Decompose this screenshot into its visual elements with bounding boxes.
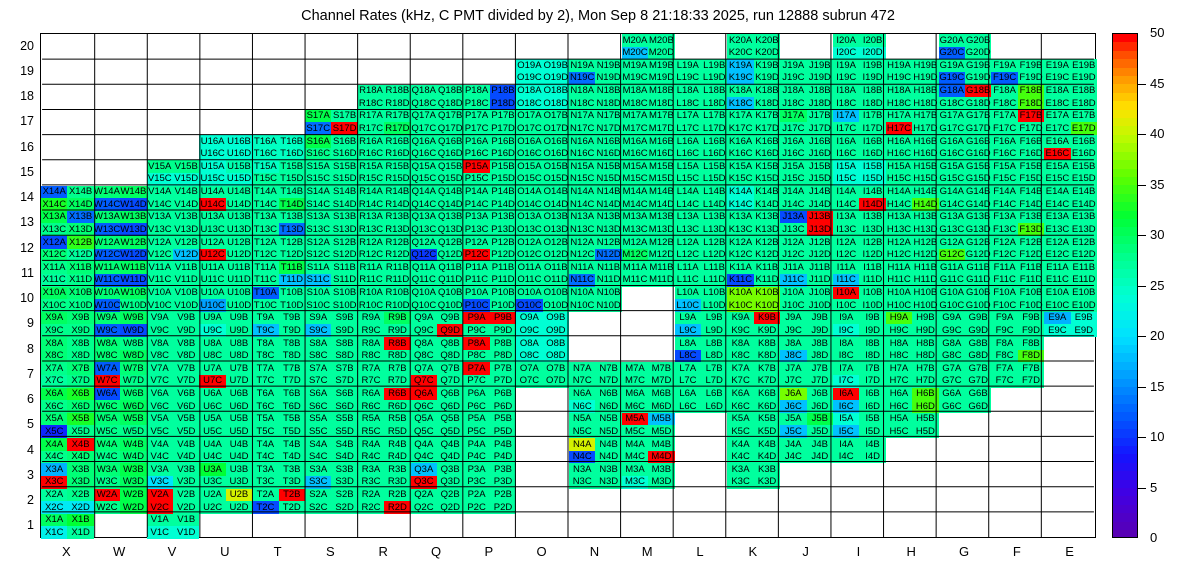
heatmap-subcell[interactable]: M6C [622, 400, 648, 413]
heatmap-subcell[interactable]: V2D [173, 501, 199, 514]
heatmap-cell[interactable]: S2AS2BS2CS2D [305, 489, 358, 514]
heatmap-subcell[interactable]: M6D [648, 400, 674, 413]
heatmap-subcell[interactable]: X6D [67, 400, 93, 413]
heatmap-subcell[interactable]: I8C [833, 350, 859, 363]
heatmap-subcell[interactable]: G19D [965, 72, 991, 85]
heatmap-subcell[interactable]: K11D [754, 274, 780, 287]
heatmap-subcell[interactable]: K13A [727, 211, 753, 224]
heatmap-cell[interactable]: R12AR12BR12CR12D [358, 236, 411, 261]
heatmap-cell[interactable]: T8AT8BT8CT8D [252, 337, 305, 362]
heatmap-subcell[interactable]: K19C [727, 72, 753, 85]
heatmap-cell[interactable]: J5AJ5BJ5CJ5D [780, 413, 833, 438]
heatmap-subcell[interactable]: K16D [754, 148, 780, 161]
heatmap-subcell[interactable]: R18C [358, 97, 384, 110]
heatmap-subcell[interactable]: J16A [780, 135, 806, 148]
heatmap-subcell[interactable]: T4C [252, 451, 278, 464]
heatmap-subcell[interactable]: H15B [912, 160, 938, 173]
heatmap-subcell[interactable]: N18D [595, 97, 621, 110]
heatmap-subcell[interactable]: O14D [543, 198, 569, 211]
heatmap-subcell[interactable]: K13C [727, 223, 753, 236]
heatmap-subcell[interactable]: M17D [648, 122, 674, 135]
heatmap-subcell[interactable]: X4B [67, 438, 93, 451]
heatmap-subcell[interactable]: T5B [279, 413, 305, 426]
heatmap-cell[interactable]: U3AU3BU3CU3D [199, 463, 252, 488]
heatmap-subcell[interactable]: R3D [384, 476, 410, 489]
heatmap-subcell[interactable]: M18D [648, 97, 674, 110]
heatmap-subcell[interactable]: I7C [833, 375, 859, 388]
heatmap-subcell[interactable]: U5D [226, 425, 252, 438]
heatmap-cell[interactable]: O11AO11BO11CO11D [516, 261, 569, 286]
heatmap-subcell[interactable]: P8A [463, 337, 489, 350]
heatmap-subcell[interactable]: U14B [226, 186, 252, 199]
heatmap-subcell[interactable]: I13D [859, 223, 885, 236]
heatmap-subcell[interactable]: I15D [859, 173, 885, 186]
heatmap-subcell[interactable]: Q14A [411, 186, 437, 199]
heatmap-subcell[interactable]: P9D [490, 324, 516, 337]
heatmap-cell[interactable]: R18AR18BR18CR18D [358, 85, 411, 110]
heatmap-cell[interactable]: L9AL9BL9CL9D [675, 312, 728, 337]
heatmap-subcell[interactable]: N3C [569, 476, 595, 489]
heatmap-subcell[interactable]: E14A [1044, 186, 1070, 199]
heatmap-cell[interactable]: S9AS9BS9CS9D [305, 312, 358, 337]
heatmap-cell[interactable]: F9AF9BF9CF9D [991, 312, 1044, 337]
heatmap-cell[interactable]: R6AR6BR6CR6D [358, 388, 411, 413]
heatmap-subcell[interactable]: K8B [754, 337, 780, 350]
heatmap-subcell[interactable]: H18B [912, 85, 938, 98]
heatmap-subcell[interactable]: S8C [305, 350, 331, 363]
heatmap-cell[interactable]: Q8AQ8BQ8CQ8D [411, 337, 464, 362]
heatmap-cell[interactable]: V10AV10BV10CV10D [147, 287, 200, 312]
heatmap-subcell[interactable]: Q12B [437, 236, 463, 249]
heatmap-subcell[interactable]: W13D [120, 223, 146, 236]
heatmap-subcell[interactable]: F14C [991, 198, 1017, 211]
heatmap-subcell[interactable]: F18C [991, 97, 1017, 110]
heatmap-subcell[interactable]: K9D [754, 324, 780, 337]
heatmap-subcell[interactable]: V14B [173, 186, 199, 199]
heatmap-subcell[interactable]: P16D [490, 148, 516, 161]
heatmap-subcell[interactable]: U5B [226, 413, 252, 426]
heatmap-cell[interactable]: M19AM19BM19CM19D [622, 59, 675, 84]
heatmap-subcell[interactable]: E13C [1044, 223, 1070, 236]
heatmap-subcell[interactable]: O17D [543, 122, 569, 135]
heatmap-cell[interactable]: S3AS3BS3CS3D [305, 463, 358, 488]
heatmap-subcell[interactable]: H9A [886, 312, 912, 325]
heatmap-subcell[interactable]: I13B [859, 211, 885, 224]
heatmap-subcell[interactable]: Q12D [437, 249, 463, 262]
heatmap-cell[interactable]: R15AR15BR15CR15D [358, 160, 411, 185]
heatmap-subcell[interactable]: H11B [912, 261, 938, 274]
heatmap-cell[interactable]: O9AO9BO9CO9D [516, 312, 569, 337]
heatmap-subcell[interactable]: G9D [965, 324, 991, 337]
heatmap-cell[interactable]: J18AJ18BJ18CJ18D [780, 85, 833, 110]
heatmap-subcell[interactable]: V7A [147, 362, 173, 375]
heatmap-subcell[interactable]: U10D [226, 299, 252, 312]
heatmap-subcell[interactable]: U11B [226, 261, 252, 274]
heatmap-subcell[interactable]: W12B [120, 236, 146, 249]
heatmap-subcell[interactable]: T2B [279, 489, 305, 502]
heatmap-subcell[interactable]: S7A [305, 362, 331, 375]
heatmap-subcell[interactable]: S17A [305, 110, 331, 123]
heatmap-subcell[interactable]: F17D [1018, 122, 1044, 135]
heatmap-cell[interactable]: V13AV13BV13CV13D [147, 211, 200, 236]
heatmap-subcell[interactable]: L7B [701, 362, 727, 375]
heatmap-cell[interactable]: G20AG20BG20CG20D [939, 34, 992, 59]
heatmap-cell[interactable]: K3AK3BK3CK3D [727, 463, 780, 488]
heatmap-subcell[interactable]: U9B [226, 312, 252, 325]
heatmap-subcell[interactable]: L13A [675, 211, 701, 224]
heatmap-subcell[interactable]: L13C [675, 223, 701, 236]
heatmap-subcell[interactable]: Q8D [437, 350, 463, 363]
heatmap-subcell[interactable]: I12C [833, 249, 859, 262]
heatmap-subcell[interactable]: Q6A [411, 388, 437, 401]
heatmap-subcell[interactable]: K4D [754, 451, 780, 464]
heatmap-subcell[interactable]: P2A [463, 489, 489, 502]
heatmap-cell[interactable]: F19AF19BF19CF19D [991, 59, 1044, 84]
heatmap-cell[interactable]: R14AR14BR14CR14D [358, 186, 411, 211]
heatmap-subcell[interactable]: U12C [199, 249, 225, 262]
heatmap-subcell[interactable]: V12A [147, 236, 173, 249]
heatmap-subcell[interactable]: G10B [965, 287, 991, 300]
heatmap-subcell[interactable]: Q8C [411, 350, 437, 363]
heatmap-subcell[interactable]: G7C [939, 375, 965, 388]
heatmap-subcell[interactable]: M3C [622, 476, 648, 489]
heatmap-cell[interactable]: W11AW11BW11CW11D [94, 261, 147, 286]
heatmap-subcell[interactable]: F15C [991, 173, 1017, 186]
heatmap-subcell[interactable]: W2D [120, 501, 146, 514]
heatmap-subcell[interactable]: K12C [727, 249, 753, 262]
heatmap-subcell[interactable]: R7B [384, 362, 410, 375]
heatmap-subcell[interactable]: E18C [1044, 97, 1070, 110]
heatmap-subcell[interactable]: P6A [463, 388, 489, 401]
heatmap-subcell[interactable]: I11A [833, 261, 859, 274]
heatmap-cell[interactable]: R9AR9BR9CR9D [358, 312, 411, 337]
heatmap-subcell[interactable]: O16B [543, 135, 569, 148]
heatmap-subcell[interactable]: M20D [648, 47, 674, 60]
heatmap-subcell[interactable]: O7B [543, 362, 569, 375]
heatmap-subcell[interactable]: R17D [384, 122, 410, 135]
heatmap-cell[interactable]: H8AH8BH8CH8D [886, 337, 939, 362]
heatmap-subcell[interactable]: E13B [1071, 211, 1097, 224]
heatmap-subcell[interactable]: H18D [912, 97, 938, 110]
heatmap-cell[interactable]: V5AV5BV5CV5D [147, 413, 200, 438]
heatmap-subcell[interactable]: G8B [965, 337, 991, 350]
heatmap-subcell[interactable]: E12A [1044, 236, 1070, 249]
heatmap-subcell[interactable]: R13B [384, 211, 410, 224]
heatmap-subcell[interactable]: V1B [173, 514, 199, 527]
heatmap-subcell[interactable]: O18A [516, 85, 542, 98]
heatmap-subcell[interactable]: H8B [912, 337, 938, 350]
heatmap-cell[interactable]: K19AK19BK19CK19D [727, 59, 780, 84]
heatmap-cell[interactable]: K13AK13BK13CK13D [727, 211, 780, 236]
heatmap-subcell[interactable]: N14D [595, 198, 621, 211]
heatmap-subcell[interactable]: H13A [886, 211, 912, 224]
heatmap-subcell[interactable]: Q13D [437, 223, 463, 236]
heatmap-subcell[interactable]: U5A [199, 413, 225, 426]
heatmap-cell[interactable]: U10AU10BU10CU10D [199, 287, 252, 312]
heatmap-subcell[interactable]: G9B [965, 312, 991, 325]
heatmap-subcell[interactable]: H13C [886, 223, 912, 236]
heatmap-subcell[interactable]: I13C [833, 223, 859, 236]
heatmap-subcell[interactable]: S6A [305, 388, 331, 401]
heatmap-subcell[interactable]: K3B [754, 463, 780, 476]
heatmap-subcell[interactable]: M5B [648, 413, 674, 426]
heatmap-subcell[interactable]: N7A [569, 362, 595, 375]
heatmap-subcell[interactable]: G15A [939, 160, 965, 173]
heatmap-subcell[interactable]: R4B [384, 438, 410, 451]
heatmap-cell[interactable]: K15AK15BK15CK15D [727, 160, 780, 185]
heatmap-subcell[interactable]: M3A [622, 463, 648, 476]
heatmap-cell[interactable]: J8AJ8BJ8CJ8D [780, 337, 833, 362]
heatmap-subcell[interactable]: J15D [807, 173, 833, 186]
heatmap-cell[interactable]: N18AN18BN18CN18D [569, 85, 622, 110]
heatmap-subcell[interactable]: X5D [67, 425, 93, 438]
heatmap-cell[interactable]: M17AM17BM17CM17D [622, 110, 675, 135]
heatmap-subcell[interactable]: I5D [859, 425, 885, 438]
heatmap-subcell[interactable]: Q10D [437, 299, 463, 312]
heatmap-subcell[interactable]: I20B [859, 34, 885, 47]
heatmap-subcell[interactable]: T15C [252, 173, 278, 186]
heatmap-subcell[interactable]: K3C [727, 476, 753, 489]
heatmap-cell[interactable]: V2AV2BV2CV2D [147, 489, 200, 514]
heatmap-subcell[interactable]: N3B [595, 463, 621, 476]
heatmap-subcell[interactable]: T16A [252, 135, 278, 148]
heatmap-cell[interactable]: O7AO7BO7CO7D [516, 362, 569, 387]
heatmap-cell[interactable]: T2AT2BT2CT2D [252, 489, 305, 514]
heatmap-subcell[interactable]: Q11A [411, 261, 437, 274]
heatmap-subcell[interactable]: J13B [807, 211, 833, 224]
heatmap-cell[interactable]: J6AJ6BJ6CJ6D [780, 388, 833, 413]
heatmap-subcell[interactable]: P11A [463, 261, 489, 274]
heatmap-subcell[interactable]: X7D [67, 375, 93, 388]
heatmap-cell[interactable]: M16AM16BM16CM16D [622, 135, 675, 160]
heatmap-subcell[interactable]: I17B [859, 110, 885, 123]
heatmap-subcell[interactable]: K8C [727, 350, 753, 363]
heatmap-subcell[interactable]: T12B [279, 236, 305, 249]
heatmap-subcell[interactable]: N12C [569, 249, 595, 262]
heatmap-subcell[interactable]: S15D [331, 173, 357, 186]
heatmap-subcell[interactable]: I14A [833, 186, 859, 199]
heatmap-cell[interactable]: F8AF8BF8CF8D [991, 337, 1044, 362]
heatmap-subcell[interactable]: N15C [569, 173, 595, 186]
heatmap-subcell[interactable]: V5B [173, 413, 199, 426]
heatmap-cell[interactable]: J13AJ13BJ13CJ13D [780, 211, 833, 236]
heatmap-subcell[interactable]: L15D [701, 173, 727, 186]
heatmap-subcell[interactable]: O12D [543, 249, 569, 262]
heatmap-subcell[interactable]: X13B [67, 211, 93, 224]
heatmap-cell[interactable]: N6AN6BN6CN6D [569, 388, 622, 413]
heatmap-subcell[interactable]: L10D [701, 299, 727, 312]
heatmap-subcell[interactable]: V8C [147, 350, 173, 363]
heatmap-cell[interactable]: P6AP6BP6CP6D [463, 388, 516, 413]
heatmap-cell[interactable]: S6AS6BS6CS6D [305, 388, 358, 413]
heatmap-subcell[interactable]: P10D [490, 299, 516, 312]
heatmap-subcell[interactable]: K20D [754, 47, 780, 60]
heatmap-cell[interactable]: T11AT11BT11CT11D [252, 261, 305, 286]
heatmap-subcell[interactable]: X7B [67, 362, 93, 375]
heatmap-subcell[interactable]: T14C [252, 198, 278, 211]
heatmap-subcell[interactable]: M7D [648, 375, 674, 388]
heatmap-cell[interactable]: Q3AQ3BQ3CQ3D [411, 463, 464, 488]
heatmap-cell[interactable]: E14AE14BE14CE14D [1044, 186, 1097, 211]
heatmap-subcell[interactable]: R5B [384, 413, 410, 426]
heatmap-subcell[interactable]: F14A [991, 186, 1017, 199]
heatmap-subcell[interactable]: R5C [358, 425, 384, 438]
heatmap-subcell[interactable]: G17A [939, 110, 965, 123]
heatmap-subcell[interactable]: E11B [1071, 261, 1097, 274]
heatmap-subcell[interactable]: S8A [305, 337, 331, 350]
heatmap-subcell[interactable]: M11B [648, 261, 674, 274]
heatmap-subcell[interactable]: J5D [807, 425, 833, 438]
heatmap-subcell[interactable]: R2B [384, 489, 410, 502]
heatmap-cell[interactable]: V14AV14BV14CV14D [147, 186, 200, 211]
heatmap-subcell[interactable]: S4D [331, 451, 357, 464]
heatmap-subcell[interactable]: F8C [991, 350, 1017, 363]
heatmap-subcell[interactable]: N4B [595, 438, 621, 451]
heatmap-cell[interactable]: X6AX6BX6CX6D [41, 388, 94, 413]
heatmap-subcell[interactable]: J18C [780, 97, 806, 110]
heatmap-subcell[interactable]: P2B [490, 489, 516, 502]
heatmap-subcell[interactable]: X9B [67, 312, 93, 325]
heatmap-cell[interactable]: L15AL15BL15CL15D [675, 160, 728, 185]
heatmap-subcell[interactable]: F7A [991, 362, 1017, 375]
heatmap-subcell[interactable]: X10A [41, 287, 67, 300]
heatmap-subcell[interactable]: G13C [939, 223, 965, 236]
heatmap-cell[interactable]: K16AK16BK16CK16D [727, 135, 780, 160]
heatmap-subcell[interactable]: S7D [331, 375, 357, 388]
heatmap-subcell[interactable]: R12B [384, 236, 410, 249]
heatmap-subcell[interactable]: T11B [279, 261, 305, 274]
heatmap-subcell[interactable]: H5A [886, 413, 912, 426]
heatmap-subcell[interactable]: E12B [1071, 236, 1097, 249]
heatmap-cell[interactable]: G14AG14BG14CG14D [939, 186, 992, 211]
heatmap-subcell[interactable]: X3A [41, 463, 67, 476]
heatmap-subcell[interactable]: V7B [173, 362, 199, 375]
heatmap-subcell[interactable]: K18A [727, 85, 753, 98]
heatmap-cell[interactable]: V7AV7BV7CV7D [147, 362, 200, 387]
heatmap-subcell[interactable]: O11B [543, 261, 569, 274]
heatmap-subcell[interactable]: S10C [305, 299, 331, 312]
heatmap-subcell[interactable]: I20A [833, 34, 859, 47]
heatmap-subcell[interactable]: R10A [358, 287, 384, 300]
heatmap-subcell[interactable]: V14C [147, 198, 173, 211]
heatmap-subcell[interactable]: F11A [991, 261, 1017, 274]
heatmap-subcell[interactable]: X8A [41, 337, 67, 350]
heatmap-subcell[interactable]: M6A [622, 388, 648, 401]
heatmap-subcell[interactable]: E9B [1071, 312, 1097, 325]
heatmap-subcell[interactable]: O16D [543, 148, 569, 161]
heatmap-subcell[interactable]: P15D [490, 173, 516, 186]
heatmap-subcell[interactable]: N6A [569, 388, 595, 401]
heatmap-cell[interactable]: I5AI5BI5CI5D [833, 413, 886, 438]
heatmap-cell[interactable]: N4AN4BN4CN4D [569, 438, 622, 463]
heatmap-subcell[interactable]: I14D [859, 198, 885, 211]
heatmap-subcell[interactable]: M7C [622, 375, 648, 388]
heatmap-subcell[interactable]: M4D [648, 451, 674, 464]
heatmap-subcell[interactable]: F12B [1018, 236, 1044, 249]
heatmap-cell[interactable]: R11AR11BR11CR11D [358, 261, 411, 286]
heatmap-subcell[interactable]: F18B [1018, 85, 1044, 98]
heatmap-subcell[interactable]: Q3C [411, 476, 437, 489]
heatmap-subcell[interactable]: S10A [305, 287, 331, 300]
heatmap-subcell[interactable]: T5C [252, 425, 278, 438]
heatmap-cell[interactable]: Q14AQ14BQ14CQ14D [411, 186, 464, 211]
heatmap-subcell[interactable]: Q13A [411, 211, 437, 224]
heatmap-subcell[interactable]: I8D [859, 350, 885, 363]
heatmap-subcell[interactable]: I10B [859, 287, 885, 300]
heatmap-subcell[interactable]: M13A [622, 211, 648, 224]
heatmap-cell[interactable]: P4AP4BP4CP4D [463, 438, 516, 463]
heatmap-subcell[interactable]: U12A [199, 236, 225, 249]
heatmap-cell[interactable]: H14AH14BH14CH14D [886, 186, 939, 211]
heatmap-cell[interactable]: P2AP2BP2CP2D [463, 489, 516, 514]
heatmap-subcell[interactable]: H14B [912, 186, 938, 199]
heatmap-subcell[interactable]: R18A [358, 85, 384, 98]
heatmap-subcell[interactable]: F17A [991, 110, 1017, 123]
heatmap-subcell[interactable]: G12A [939, 236, 965, 249]
heatmap-subcell[interactable]: I4C [833, 451, 859, 464]
heatmap-subcell[interactable]: Q13C [411, 223, 437, 236]
heatmap-subcell[interactable]: R6C [358, 400, 384, 413]
heatmap-subcell[interactable]: K16B [754, 135, 780, 148]
heatmap-cell[interactable]: S14AS14BS14CS14D [305, 186, 358, 211]
heatmap-subcell[interactable]: R14B [384, 186, 410, 199]
heatmap-subcell[interactable]: U6C [199, 400, 225, 413]
heatmap-cell[interactable]: G15AG15BG15CG15D [939, 160, 992, 185]
heatmap-subcell[interactable]: I17A [833, 110, 859, 123]
heatmap-subcell[interactable]: I5A [833, 413, 859, 426]
heatmap-subcell[interactable]: V14A [147, 186, 173, 199]
heatmap-subcell[interactable]: I7A [833, 362, 859, 375]
heatmap-subcell[interactable]: R7C [358, 375, 384, 388]
heatmap-subcell[interactable]: P3A [463, 463, 489, 476]
heatmap-subcell[interactable]: R4A [358, 438, 384, 451]
heatmap-subcell[interactable]: F19B [1018, 59, 1044, 72]
heatmap-subcell[interactable]: M17B [648, 110, 674, 123]
heatmap-subcell[interactable]: R6B [384, 388, 410, 401]
heatmap-subcell[interactable]: M15B [648, 160, 674, 173]
heatmap-cell[interactable]: K14AK14BK14CK14D [727, 186, 780, 211]
heatmap-subcell[interactable]: Q4B [437, 438, 463, 451]
heatmap-subcell[interactable]: L12C [675, 249, 701, 262]
heatmap-cell[interactable]: L18AL18BL18CL18D [675, 85, 728, 110]
heatmap-subcell[interactable]: T15D [279, 173, 305, 186]
heatmap-subcell[interactable]: X3D [67, 476, 93, 489]
heatmap-subcell[interactable]: O11A [516, 261, 542, 274]
heatmap-subcell[interactable]: E10A [1044, 287, 1070, 300]
heatmap-subcell[interactable]: O10B [543, 287, 569, 300]
heatmap-subcell[interactable]: Q5D [437, 425, 463, 438]
heatmap-subcell[interactable]: S9D [331, 324, 357, 337]
heatmap-subcell[interactable]: I12A [833, 236, 859, 249]
heatmap-cell[interactable]: H17AH17BH17CH17D [886, 110, 939, 135]
heatmap-subcell[interactable]: O8D [543, 350, 569, 363]
heatmap-subcell[interactable]: J8D [807, 350, 833, 363]
heatmap-cell[interactable]: Q9AQ9BQ9CQ9D [411, 312, 464, 337]
heatmap-subcell[interactable]: V2A [147, 489, 173, 502]
heatmap-subcell[interactable]: G19A [939, 59, 965, 72]
heatmap-subcell[interactable]: H7D [912, 375, 938, 388]
heatmap-subcell[interactable]: S13B [331, 211, 357, 224]
heatmap-subcell[interactable]: V14D [173, 198, 199, 211]
heatmap-subcell[interactable]: H19D [912, 72, 938, 85]
heatmap-subcell[interactable]: H10B [912, 287, 938, 300]
heatmap-subcell[interactable]: G8D [965, 350, 991, 363]
heatmap-subcell[interactable]: N16D [595, 148, 621, 161]
heatmap-subcell[interactable]: K17C [727, 122, 753, 135]
heatmap-subcell[interactable]: P4A [463, 438, 489, 451]
heatmap-subcell[interactable]: N18A [569, 85, 595, 98]
heatmap-cell[interactable]: O18AO18BO18CO18D [516, 85, 569, 110]
